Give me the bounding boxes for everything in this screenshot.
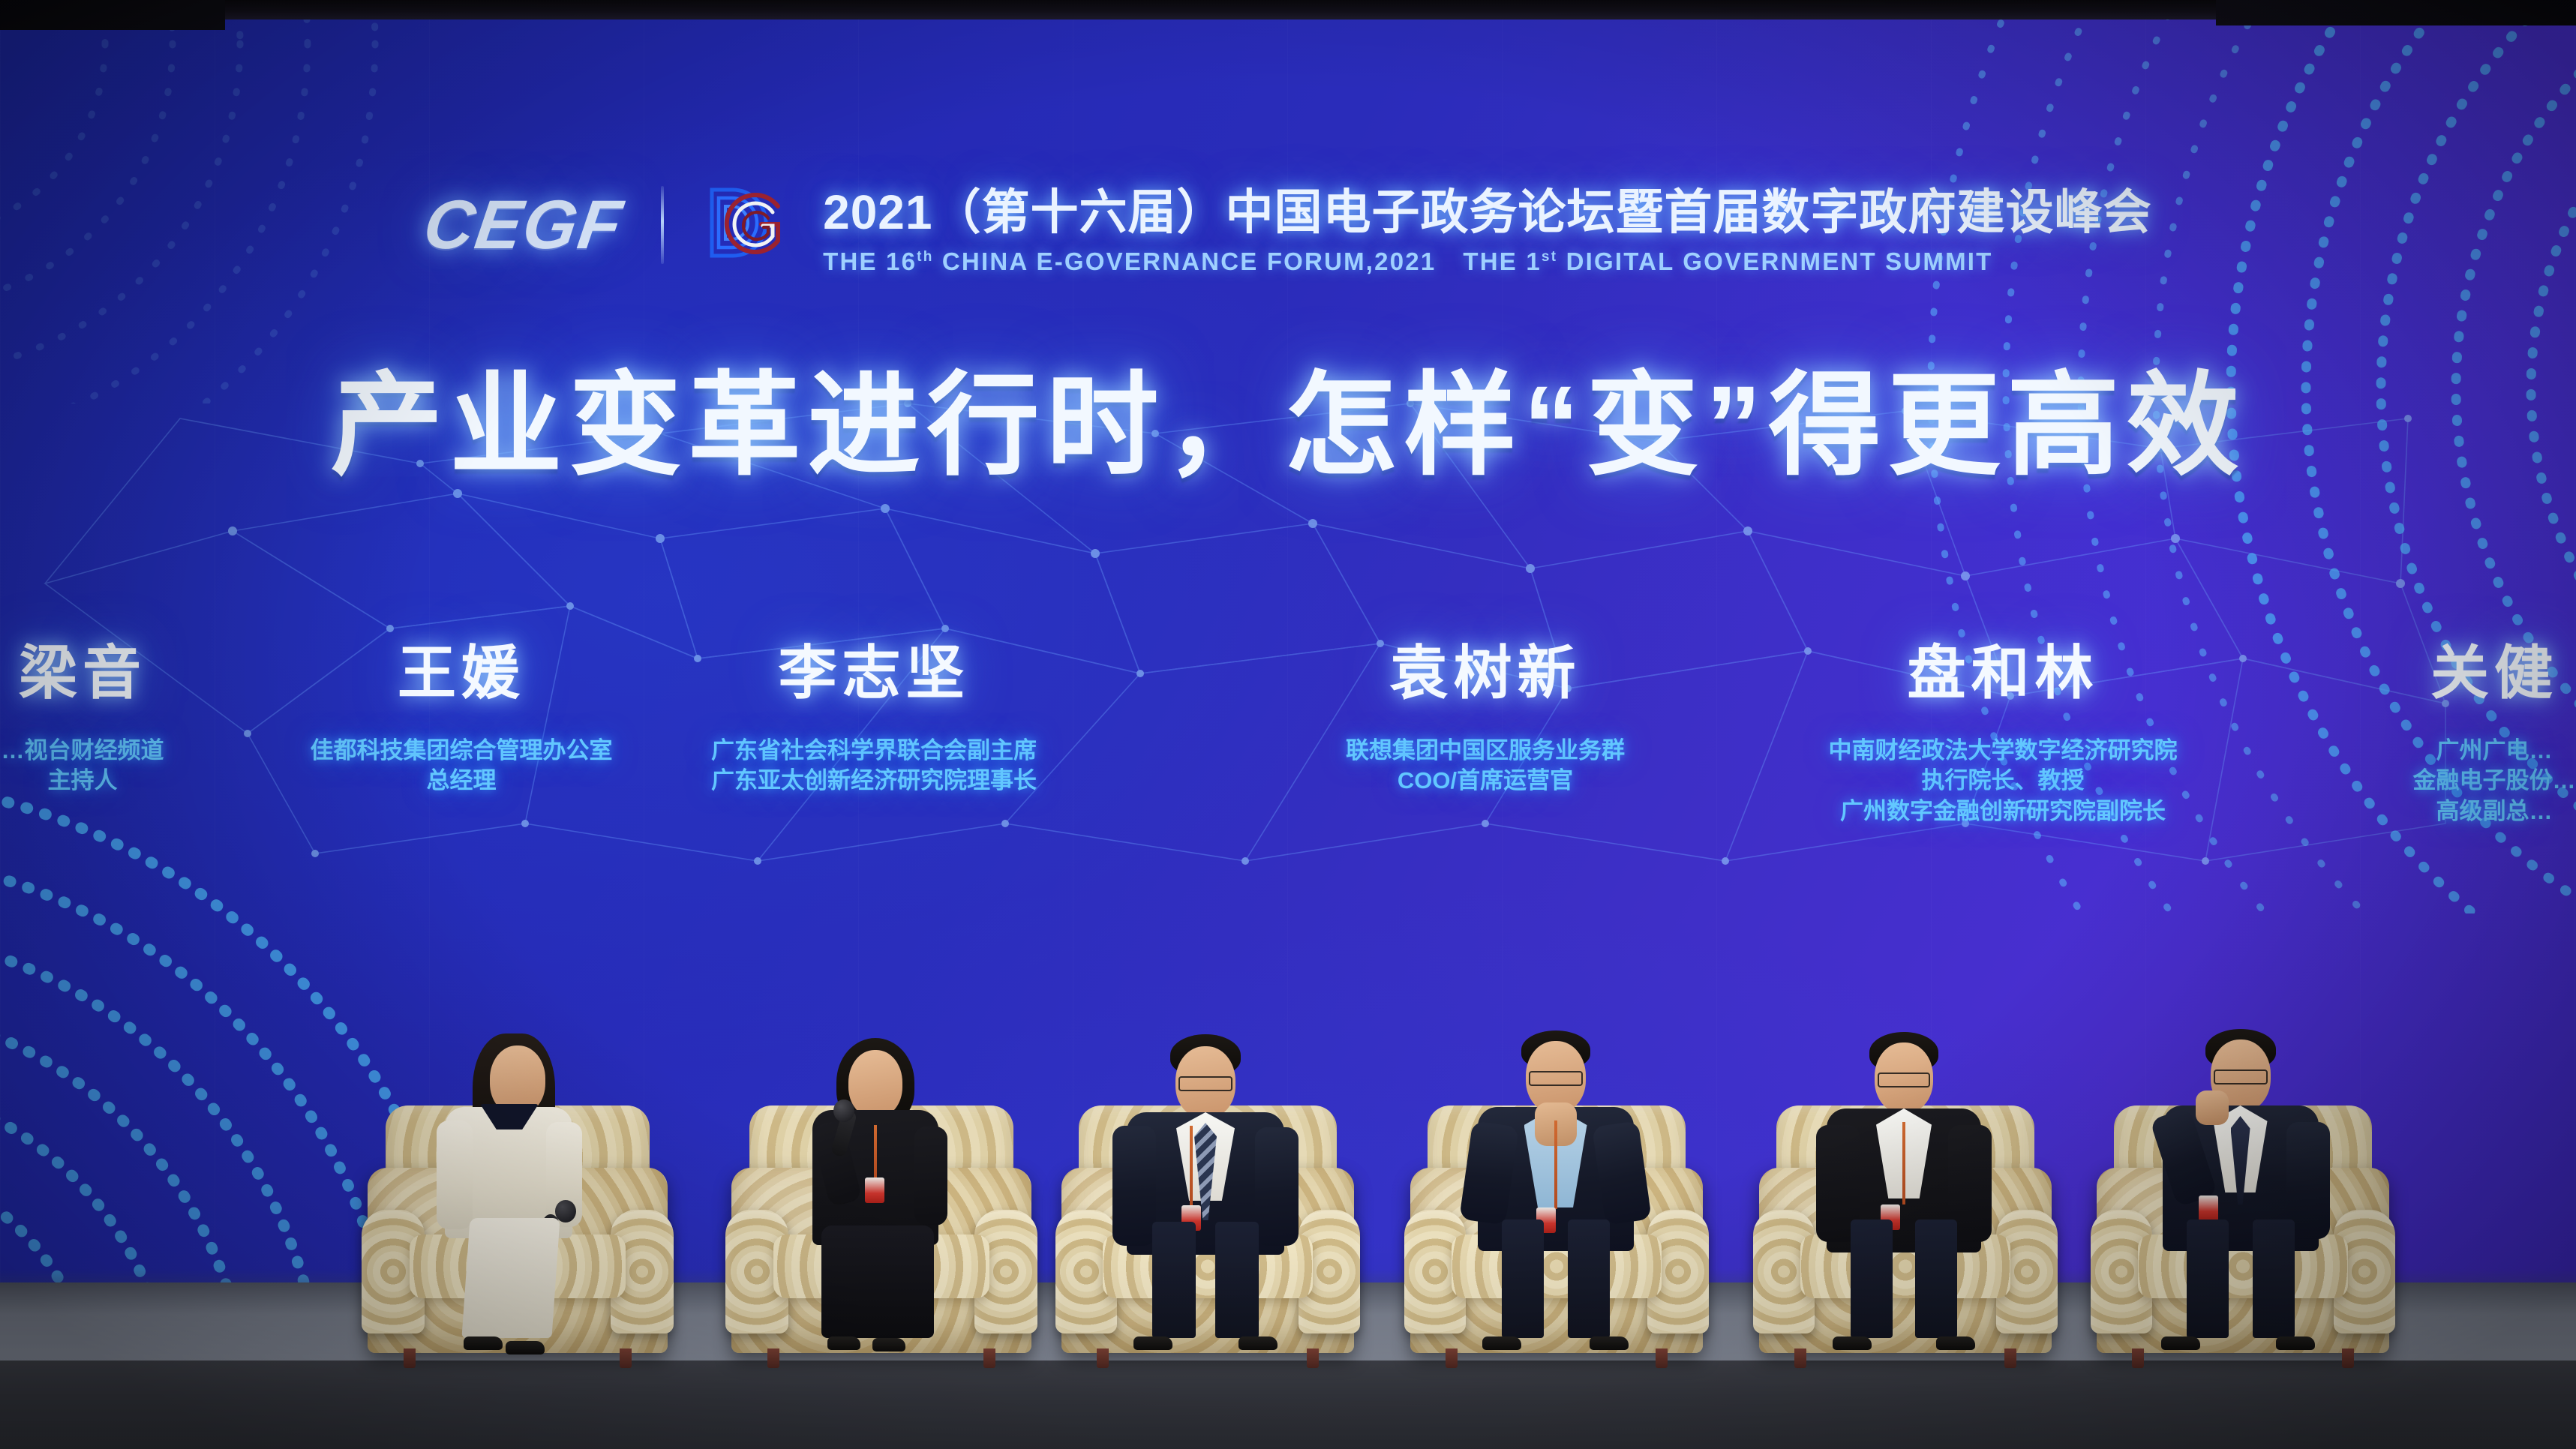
microphone-head [833,1099,854,1122]
panel-seating-row [0,946,2576,1366]
chair-leg-right [620,1348,632,1368]
panelist-3-role: 广东省社会科学界联合会副主席 广东亚太创新经济研究院理事长 [679,736,1069,796]
legs [1834,1218,1974,1338]
session-headline: 产业变革进行时，怎样“变”得更高效 [0,334,2576,497]
trouser-left [1502,1219,1544,1338]
person-panelist-right-end [2152,1029,2328,1338]
panelist-5-name: 盘和林 [1785,626,2220,710]
person-panelist-glasses [1818,1032,1990,1338]
panelist-3-name: 李志坚 [679,626,1069,710]
panelist-2: 王媛 佳都科技集团综合管理办公室 总经理 [285,626,638,796]
panelist-4: 袁树新 联想集团中国区服务业务群 COO/首席运营官 [1294,626,1677,796]
shoe-left [2161,1336,2200,1350]
lanyard [874,1125,877,1179]
conference-stage-photo: CEGF 2021（第十六届）中国电子政务论坛暨首届数字政府建设峰会 THE 1… [0,0,2576,1449]
panelist-1: 梁音 …视台财经频道 主持人 [0,626,233,796]
ceiling-strip [0,0,2576,19]
title-en-1-prefix: THE 16 [823,247,917,275]
panelist-2-role-line-2: 总经理 [285,766,638,796]
panelist-6-role: 广州广电… 金融电子股份… 高级副总… [2318,736,2576,826]
shoe-left [1133,1336,1172,1350]
shoe-right [506,1341,545,1354]
stage-front-edge [0,1360,2576,1449]
glasses-icon [1878,1072,1930,1087]
shoe-right [1238,1336,1277,1350]
chair-leg-left [1097,1348,1109,1368]
legs [452,1218,565,1338]
chair-leg-left [1794,1348,1806,1368]
panelist-1-role-line-2: 主持人 [0,766,233,796]
ceiling-corner-left [0,0,225,30]
title-en-1-sup: th [917,249,933,265]
chair-leg-left [2132,1348,2144,1368]
lanyard [1554,1120,1557,1209]
chair-leg-left [1446,1348,1458,1368]
panelist-name-band: 梁音 …视台财经频道 主持人 王媛 佳都科技集团综合管理办公室 总经理 李志坚 … [0,626,2576,866]
chair-leg-right [2342,1348,2354,1368]
seat-5 [1759,1036,2052,1366]
trouser-right [1215,1222,1259,1338]
panelist-4-name: 袁树新 [1294,626,1677,710]
shoe-right [2276,1336,2315,1350]
person-speaker-black-dress [800,1038,950,1338]
legs [2170,1218,2311,1338]
panelist-6-name: 关健 [2318,626,2576,710]
hand-on-chin [2196,1090,2229,1125]
chair-leg-left [767,1348,779,1368]
panelist-4-role-line-1: 联想集团中国区服务业务群 [1294,736,1677,766]
person-panelist-striped-tie [1115,1034,1296,1338]
panelist-5-role-line-1: 中南财经政法大学数字经济研究院 [1785,736,2220,766]
seat-2 [731,1036,1031,1366]
arm-left [437,1120,473,1229]
panelist-1-name: 梁音 [0,626,233,710]
chair-leg-left [404,1348,416,1368]
shoe-right [1590,1336,1629,1350]
head [848,1050,902,1117]
panelist-6-role-line-1: 广州广电… [2318,736,2576,766]
person-panelist-blue-shirt [1467,1030,1644,1338]
seat-6 [2097,1036,2389,1366]
title-en-1-rest: CHINA E-GOVERNANCE FORUM,2021 [934,247,1437,275]
event-title-cn: 2021（第十六届）中国电子政务论坛暨首届数字政府建设峰会 [823,174,2151,243]
trouser-left [1152,1222,1196,1338]
chair-leg-right [983,1348,995,1368]
legs [1134,1218,1277,1338]
trouser-right [1915,1219,1957,1338]
event-title-block: 2021（第十六届）中国电子政务论坛暨首届数字政府建设峰会 THE 16th C… [823,174,2151,276]
glasses-icon [2214,1069,2268,1084]
ceiling-corner-right [2216,0,2576,25]
seat-3 [1061,1036,1354,1366]
panelist-5-role-line-2: 执行院长、教授 [1785,766,2220,796]
chair-leg-right [1656,1348,1668,1368]
skirt-black [821,1225,934,1338]
shoe-left [827,1336,860,1350]
badge [865,1177,884,1203]
shoe-right [1936,1336,1975,1350]
shoe-right [872,1338,905,1351]
trousers-white [461,1218,560,1338]
glasses-icon [1178,1076,1232,1091]
seat-4 [1410,1036,1703,1366]
dg-logo-icon [697,176,794,274]
event-title-en: THE 16th CHINA E-GOVERNANCE FORUM,2021TH… [823,247,2151,276]
title-en-2-rest: DIGITAL GOVERNMENT SUMMIT [1557,247,1992,275]
chair-leg-right [1307,1348,1319,1368]
legs [1485,1218,1626,1338]
trouser-left [2187,1219,2229,1338]
chair-leg-right [2004,1348,2016,1368]
trouser-left [1851,1219,1893,1338]
panelist-6-role-line-2: 金融电子股份… [2318,766,2576,796]
shoe-left [464,1336,503,1350]
shoe-left [1833,1336,1872,1350]
panelist-1-role: …视台财经频道 主持人 [0,736,233,796]
panelist-5-role-line-3: 广州数字金融创新研究院副院长 [1785,796,2220,826]
panelist-6: 关健 广州广电… 金融电子股份… 高级副总… [2318,626,2576,826]
glasses-icon [1529,1071,1583,1086]
person-moderator-white-suit [434,1038,584,1338]
panelist-1-role-line-1: …视台财经频道 [0,736,233,766]
lanyard [1902,1122,1905,1204]
lanyard [1190,1126,1193,1207]
panelist-3-role-line-2: 广东亚太创新经济研究院理事长 [679,766,1069,796]
panelist-4-role-line-2: COO/首席运营官 [1294,766,1677,796]
panelist-5: 盘和林 中南财经政法大学数字经济研究院 执行院长、教授 广州数字金融创新研究院副… [1785,626,2220,826]
panelist-2-name: 王媛 [285,626,638,710]
title-en-2-sup: st [1542,249,1557,265]
panelist-2-role-line-1: 佳都科技集团综合管理办公室 [285,736,638,766]
legs [815,1225,935,1338]
panelist-2-role: 佳都科技集团综合管理办公室 总经理 [285,736,638,796]
title-en-2-prefix: THE 1 [1463,247,1542,275]
panelist-3-role-line-1: 广东省社会科学界联合会副主席 [679,736,1069,766]
seat-1 [368,1036,668,1366]
panelist-4-role: 联想集团中国区服务业务群 COO/首席运营官 [1294,736,1677,796]
panelist-5-role: 中南财经政法大学数字经济研究院 执行院长、教授 广州数字金融创新研究院副院长 [1785,736,2220,826]
panelist-3: 李志坚 广东省社会科学界联合会副主席 广东亚太创新经济研究院理事长 [679,626,1069,796]
trouser-right [1568,1219,1610,1338]
badge [2199,1195,2218,1221]
arm-right [914,1126,947,1225]
panelist-6-role-line-3: 高级副总… [2318,796,2576,826]
shoe-left [1482,1336,1521,1350]
trouser-right [2253,1219,2295,1338]
event-header: CEGF 2021（第十六届）中国电子政务论坛暨首届数字政府建设峰会 THE 1… [0,174,2576,276]
cegf-logo-text: CEGF [419,186,666,265]
